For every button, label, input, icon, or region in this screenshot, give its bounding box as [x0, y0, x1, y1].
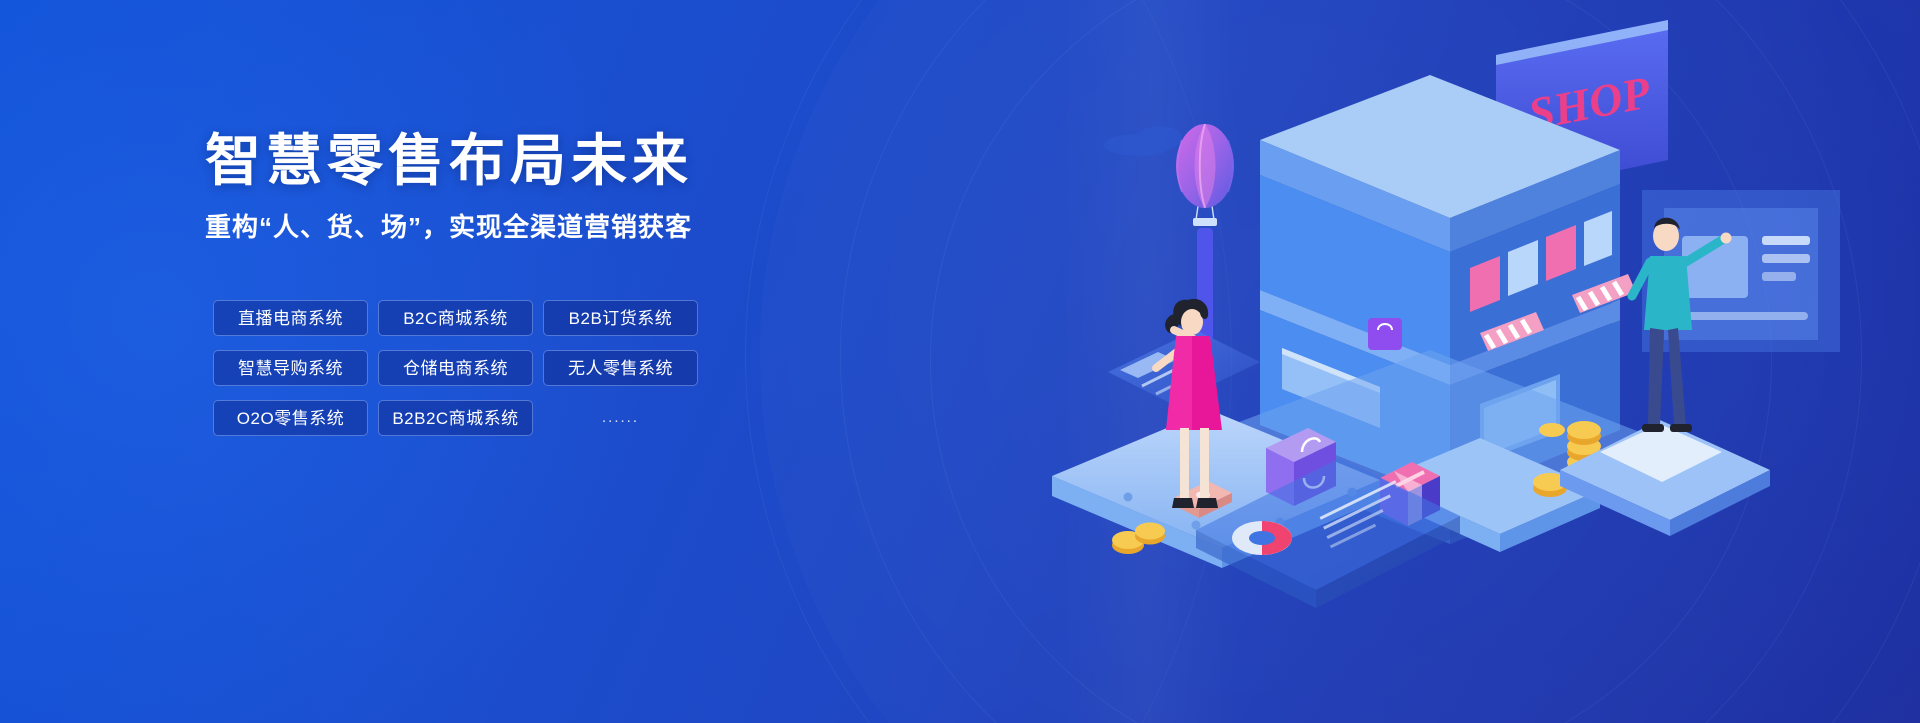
man-at-screen	[1560, 218, 1770, 536]
tag-more-ellipsis: ......	[543, 400, 698, 436]
banner-copy: 智慧零售布局未来 重构“人、货、场”，实现全渠道营销获客	[205, 130, 825, 245]
tag-b2c-mall[interactable]: B2C商城系统	[378, 300, 533, 336]
bag-tag-icon	[1368, 318, 1402, 350]
shop-sign-text: SHOP	[1524, 66, 1655, 140]
tag-o2o-retail[interactable]: O2O零售系统	[213, 400, 368, 436]
coin-pile-icon	[1533, 421, 1601, 497]
hero-banner: 智慧零售布局未来 重构“人、货、场”，实现全渠道营销获客 直播电商系统 B2C商…	[0, 0, 1920, 723]
bg-arc-outer	[745, 0, 1920, 723]
ui-screen-panel	[1108, 330, 1260, 404]
page-title: 智慧零售布局未来	[205, 130, 825, 193]
right-floating-screen	[1642, 190, 1840, 352]
tag-unmanned-retail[interactable]: 无人零售系统	[543, 350, 698, 386]
conveyor-belt	[1052, 410, 1600, 568]
gift-box-icon	[1380, 462, 1440, 526]
tag-warehouse-commerce[interactable]: 仓储电商系统	[378, 350, 533, 386]
bg-arc-inner	[930, 0, 1772, 723]
isometric-shop-building	[1260, 75, 1636, 500]
cloud-icon	[1104, 126, 1182, 156]
bg-glow-right	[1080, 0, 1920, 723]
donut-chart-icon	[1232, 521, 1292, 555]
analytics-dashboard-panel	[1196, 458, 1460, 608]
shop-signboard: SHOP	[1496, 20, 1668, 367]
page-subtitle: 重构“人、货、场”，实现全渠道营销获客	[205, 211, 825, 245]
bg-panel-sheen	[1060, 0, 1240, 723]
bg-circle-large	[760, 0, 1920, 723]
shopping-bag-icon	[1266, 428, 1336, 506]
cash-stack-icon	[1175, 481, 1232, 518]
retail-isometric-illustration: SHOP	[960, 0, 1920, 723]
shop-awnings	[1480, 274, 1636, 351]
bg-arc-mid	[840, 0, 1862, 723]
shop-upper-windows	[1470, 211, 1612, 312]
woman-shopper	[1156, 299, 1222, 508]
product-tag-grid: 直播电商系统 B2C商城系统 B2B订货系统 智慧导购系统 仓储电商系统 无人零…	[213, 300, 698, 436]
gold-coins-icon	[1112, 523, 1165, 555]
hot-air-balloon-icon	[1176, 124, 1234, 340]
tag-b2b2c-mall[interactable]: B2B2C商城系统	[378, 400, 533, 436]
tag-b2b-ordering[interactable]: B2B订货系统	[543, 300, 698, 336]
shop-base-platform	[1218, 350, 1660, 544]
tag-live-commerce[interactable]: 直播电商系统	[213, 300, 368, 336]
tag-smart-guide[interactable]: 智慧导购系统	[213, 350, 368, 386]
